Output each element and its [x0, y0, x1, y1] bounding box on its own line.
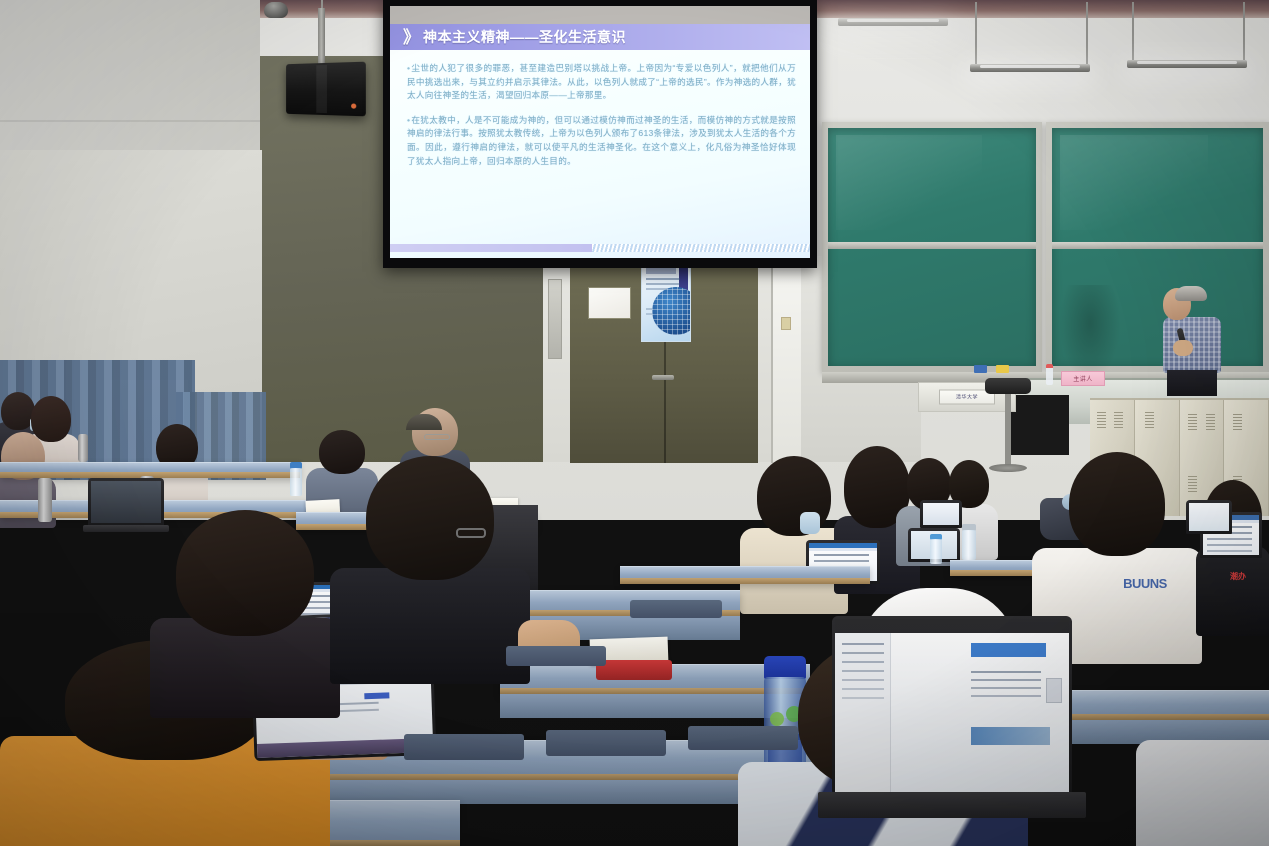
shirt-print-label: 潮办	[1230, 572, 1246, 581]
dome-camera-icon	[264, 2, 288, 18]
speaker-mount-pole	[318, 8, 325, 66]
chair-back	[546, 730, 666, 756]
light-switch[interactable]	[781, 317, 791, 330]
wall-shadow	[1060, 285, 1120, 380]
globe-graphic	[652, 287, 691, 335]
laptop[interactable]	[1186, 500, 1232, 534]
chalk-box-blue	[974, 365, 987, 373]
light-hang-wire	[1132, 2, 1134, 62]
bullet-icon: •	[407, 115, 410, 125]
thermos-flask	[38, 478, 52, 522]
audience-member	[330, 456, 530, 676]
chair-back	[404, 734, 524, 760]
desk-row	[620, 566, 870, 584]
chair-back	[688, 726, 798, 750]
tshirt-print-label: BUUNS	[1123, 576, 1167, 591]
slide-paragraph-text: 尘世的人犯了很多的罪恶，甚至建造巴别塔以挑战上帝。上帝因为“专爱以色列人”，就把…	[407, 63, 796, 100]
chevron-double-right-icon: 》	[403, 29, 417, 46]
chalk-box-yellow	[996, 365, 1009, 373]
lecturer-hair	[1175, 286, 1207, 301]
door-window	[588, 287, 631, 319]
chair-back	[506, 646, 606, 666]
audience-member	[150, 510, 340, 710]
ceiling-light-fixture	[838, 18, 948, 26]
lecturer-hand	[1173, 340, 1193, 356]
classroom-door[interactable]	[543, 256, 801, 462]
slide-footer-band	[390, 244, 810, 252]
slide-paragraph: •在犹太教中，人是不可能成为神的，但可以通过模仿神而过神圣的生活，而模仿神的方式…	[407, 114, 796, 168]
water-bottle	[962, 524, 976, 560]
speaker-name-sign: 主讲人	[1061, 371, 1105, 386]
door-handle[interactable]	[652, 375, 674, 380]
bullet-icon: •	[407, 63, 410, 73]
light-hang-wire	[975, 2, 977, 66]
door-push-plate	[548, 279, 562, 359]
lecturer-trousers	[1167, 370, 1217, 396]
eyeglasses-icon	[424, 434, 450, 440]
door-poster	[641, 264, 691, 342]
slide-body: •尘世的人犯了很多的罪恶，甚至建造巴别塔以挑战上帝。上帝因为“专爱以色列人”，就…	[407, 62, 796, 179]
water-bottle	[290, 462, 302, 496]
eyeglasses-icon	[456, 528, 486, 538]
lecturer	[1155, 288, 1227, 396]
slide-title-band: 》 神本主义精神——圣化生活意识	[390, 24, 810, 50]
blackboard-left	[822, 122, 1042, 372]
light-hang-wire	[1086, 2, 1088, 66]
presentation-slide: 》 神本主义精神——圣化生活意识 •尘世的人犯了很多的罪恶，甚至建造巴别塔以挑战…	[390, 6, 810, 258]
audience-member	[1136, 700, 1269, 846]
laptop[interactable]	[920, 500, 962, 528]
face-mask	[800, 512, 820, 534]
light-hang-wire	[1243, 2, 1245, 62]
projection-screen: 》 神本主义精神——圣化生活意识 •尘世的人犯了很多的罪恶，甚至建造巴别塔以挑战…	[383, 0, 817, 268]
chair-back	[630, 600, 722, 618]
slide-title: 神本主义精神——圣化生活意识	[423, 27, 626, 47]
thermos-flask	[78, 434, 88, 462]
laptop[interactable]	[832, 616, 1072, 796]
tshirt-print: BUUNS	[1115, 572, 1175, 594]
classroom-photo: 清华大学 主讲人	[0, 0, 1269, 846]
slide-top-margin	[390, 6, 810, 24]
water-bottle	[930, 534, 942, 564]
ceiling-speaker-icon	[286, 62, 366, 117]
speaker-sign-label: 主讲人	[1073, 374, 1093, 383]
slide-paragraph: •尘世的人犯了很多的罪恶，甚至建造巴别塔以挑战上帝。上帝因为“专爱以色列人”，就…	[407, 62, 796, 103]
slide-paragraph-text: 在犹太教中，人是不可能成为神的，但可以通过模仿神而过神圣的生活，而模仿神的方式就…	[407, 115, 796, 166]
red-pouch	[596, 660, 672, 680]
ceiling-light-fixture	[1127, 60, 1247, 68]
water-bottle	[1046, 364, 1053, 385]
shirt-print: 潮办	[1230, 566, 1264, 578]
ceiling-light-fixture	[970, 64, 1090, 72]
side-door[interactable]	[771, 265, 801, 463]
